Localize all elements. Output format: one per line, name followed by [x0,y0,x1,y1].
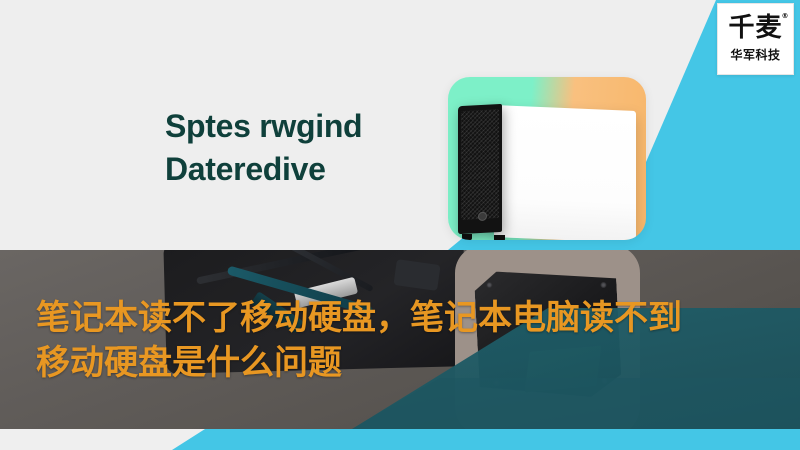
drive-foot-right [494,235,505,240]
hdd-screw-icon [486,282,492,288]
cyan-bottom-strip [0,232,800,250]
bottom-cyan-diagonal [0,429,800,450]
brand-logo-badge: 千麦 ® 华军科技 [717,3,794,75]
brand-logo-main-text: 千麦 [728,13,782,43]
drive-front-panel [458,104,502,234]
bottom-strip [0,429,800,450]
hero-title: Sptes rwgind Dateredive [165,105,465,191]
product-card [448,77,646,240]
drive-body [494,105,636,240]
trademark-icon: ® [782,13,790,20]
hdd-screw-icon [600,282,606,288]
drive-brand-logo-icon [478,212,487,221]
hero-title-line-1: Sptes rwgind [165,105,465,148]
drive-foot-left [462,234,472,240]
overlay-headline: 笔记本读不了移动硬盘，笔记本电脑读不到移动硬盘是什么问题 [36,296,686,386]
article-banner-image: Sptes rwgind Dateredive 千麦 ® 华军科技 [0,0,800,450]
brand-logo-main: 千麦 ® [728,15,782,41]
hero-section: Sptes rwgind Dateredive 千麦 ® 华军科技 [0,0,800,250]
hero-title-line-2: Dateredive [165,148,465,191]
brand-logo-sub-text: 华军科技 [730,46,780,63]
